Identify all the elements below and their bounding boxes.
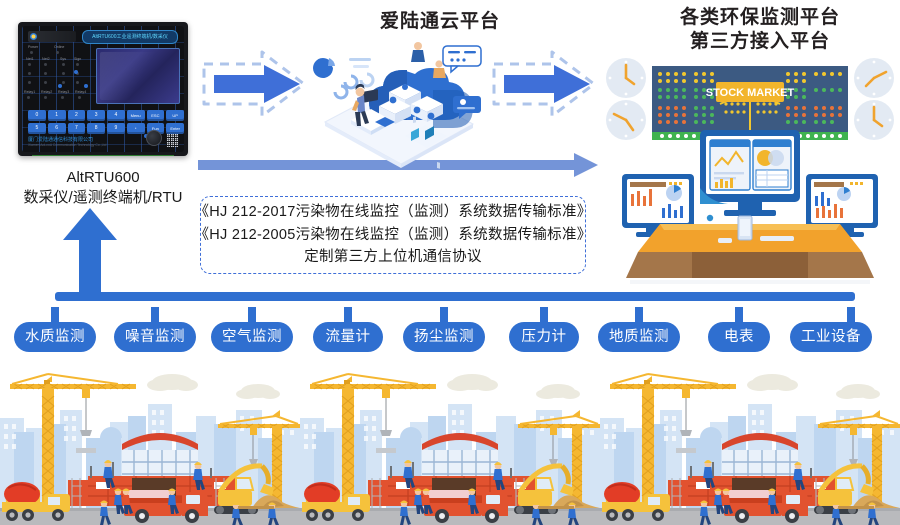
rtu-device-image: AltRTU600工业遥测终端机/数采仪 Power Online Net1 N… xyxy=(18,22,188,156)
infographic-canvas: 爱陆通云平台 各类环保监测平台 第三方接入平台 AltRTU600工业遥测终端机… xyxy=(0,0,900,525)
device-status-label-sys: Sys xyxy=(60,57,66,61)
protocol-standards-box: 《HJ 212-2017污染物在线监控（监测）系统数据传输标准》 《HJ 212… xyxy=(200,196,586,274)
device-keypad: 0 1 2 3 4 Menu ESC UP 5 6 7 8 9 xyxy=(28,110,184,136)
device-lcd-screen xyxy=(96,48,180,104)
device-key-enter: Enter xyxy=(166,123,184,134)
device-pill-4[interactable]: 扬尘监测 xyxy=(403,322,485,352)
device-led-label-online: Online xyxy=(54,45,64,49)
device-key-esc: ESC xyxy=(147,110,165,121)
page-title-cloud-platform: 爱陆通云平台 xyxy=(300,10,580,34)
page-title-monitoring-platform: 各类环保监测平台 第三方接入平台 xyxy=(620,6,900,54)
device-led-label-power: Power xyxy=(28,45,38,49)
device-key-3: 3 xyxy=(87,110,105,121)
device-qr-code xyxy=(166,134,179,147)
device-key-6: 6 xyxy=(48,123,66,134)
device-company-name: 厦门爱陆通通信科技有限公司 xyxy=(28,136,93,143)
device-pill-1[interactable]: 噪音监测 xyxy=(114,322,196,352)
monitoring-platform-line1: 各类环保监测平台 xyxy=(620,6,900,30)
device-banner-text: AltRTU600工业遥测终端机/数采仪 xyxy=(82,30,178,44)
device-pill-7[interactable]: 电表 xyxy=(708,322,770,352)
device-pill-6[interactable]: 地质监测 xyxy=(598,322,680,352)
device-pill-2[interactable]: 空气监测 xyxy=(211,322,293,352)
device-brand-logo xyxy=(28,31,76,42)
device-key-star: * xyxy=(127,123,145,134)
construction-site-illustration xyxy=(0,366,900,525)
wall-clock-icon-4 xyxy=(854,100,894,140)
device-status-label-net1: Net1 xyxy=(26,57,34,61)
device-faceplate: AltRTU600工业遥测终端机/数采仪 Power Online Net1 N… xyxy=(22,26,184,152)
center-monitor xyxy=(700,130,800,216)
device-pill-3[interactable]: 流量计 xyxy=(313,322,383,352)
construction-tile-1 xyxy=(0,366,300,525)
control-desk xyxy=(626,215,874,284)
device-relay-label-1: Relay1 xyxy=(24,90,35,94)
device-key-8: 8 xyxy=(87,123,105,134)
device-status-label-sign: Sign xyxy=(74,57,81,61)
flow-arrow-right-icon-2 xyxy=(490,48,600,120)
device-relay-label-2: Relay2 xyxy=(41,90,52,94)
device-key-up: UP xyxy=(166,110,184,121)
construction-tile-3 xyxy=(600,366,900,525)
protocol-line-3: 定制第三方上位机通信协议 xyxy=(304,246,482,268)
wall-clock-icon-1 xyxy=(606,58,646,98)
device-dial-knob xyxy=(146,130,162,146)
protocol-line-1: 《HJ 212-2017污染物在线监控（监测）系统数据传输标准》 xyxy=(194,201,591,223)
device-pill-8[interactable]: 工业设备 xyxy=(790,322,872,352)
device-company-name-en: Xiamen AoLcoA Communication Technology C… xyxy=(28,143,106,147)
device-type-label: 数采仪/遥测终端机/RTU xyxy=(18,188,188,208)
device-relay-label-3: Relay3 xyxy=(58,90,69,94)
board-title-text: STOCK MARKET xyxy=(706,87,795,99)
device-key-1: 1 xyxy=(48,110,66,121)
device-key-0: 0 xyxy=(28,110,46,121)
device-terminal-block xyxy=(32,155,174,156)
keypad-row-1: 0 1 2 3 4 Menu ESC UP xyxy=(28,110,184,121)
wall-clock-icon-2 xyxy=(606,100,646,140)
wall-clock-icon-3 xyxy=(854,58,894,98)
rtu-device-group: AltRTU600工业遥测终端机/数采仪 Power Online Net1 N… xyxy=(18,22,188,209)
device-model-label: AltRTU600 xyxy=(18,168,188,188)
device-status-label-net2: Net2 xyxy=(42,57,50,61)
keypad-row-2: 5 6 7 8 9 * Fun Enter xyxy=(28,123,184,134)
monitoring-platform-illustration: STOCK MARKET xyxy=(600,48,900,286)
device-key-2: 2 xyxy=(68,110,86,121)
display-board: STOCK MARKET xyxy=(652,66,848,140)
device-key-9: 9 xyxy=(107,123,125,134)
device-key-menu: Menu xyxy=(127,110,145,121)
device-relay-label-4: Relay4 xyxy=(75,90,86,94)
device-key-7: 7 xyxy=(68,123,86,134)
device-key-5: 5 xyxy=(28,123,46,134)
flow-arrow-right-icon-1 xyxy=(200,48,310,120)
protocol-line-2: 《HJ 212-2005污染物在线监控（监测）系统数据传输标准》 xyxy=(194,224,591,246)
construction-tile-2 xyxy=(300,366,600,525)
device-key-4: 4 xyxy=(107,110,125,121)
device-pill-0[interactable]: 水质监测 xyxy=(14,322,96,352)
device-pill-5[interactable]: 压力计 xyxy=(509,322,579,352)
device-caption: AltRTU600 数采仪/遥测终端机/RTU xyxy=(18,168,188,209)
cloud-platform-illustration xyxy=(305,40,490,170)
